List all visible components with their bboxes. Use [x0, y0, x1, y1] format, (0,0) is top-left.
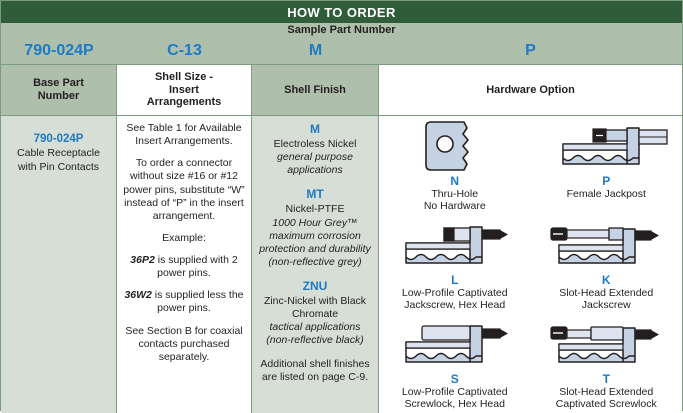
shell-size-p1: See Table 1 for Available Insert Arrange…: [122, 122, 246, 148]
low-profile-screwlock-art: [380, 316, 530, 374]
shell-finish-note-znu-2: (non-reflective black): [266, 334, 363, 346]
column-base-part-number: 790-024P Cable Receptacle with Pin Conta…: [1, 116, 117, 413]
header-hardware-option: Hardware Option: [379, 65, 682, 115]
shell-size-p2: To order a connector without size #16 or…: [122, 157, 246, 223]
hardware-label-t: Slot-Head Extended Captivated Screwlock: [556, 386, 657, 411]
hardware-option-l: L Low-Profile Captivated Jackscrew, Hex …: [379, 215, 531, 314]
thru-hole-flange-art: [380, 118, 530, 176]
chart-banner: HOW TO ORDER: [1, 1, 682, 23]
shell-size-coax-note: See Section B for coaxial contacts purch…: [122, 325, 246, 364]
banner-title: HOW TO ORDER: [287, 5, 396, 20]
sample-part-number-strip: Sample Part Number 790-024P C-13 M P: [1, 23, 682, 65]
hardware-option-t: T Slot-Head Extended Captivated Screwloc…: [531, 314, 683, 413]
how-to-order-chart: HOW TO ORDER Sample Part Number 790-024P…: [0, 0, 683, 411]
example-code-36w2: 36W2: [124, 289, 151, 301]
shell-finish-note-mt-3: (non-reflective grey): [268, 256, 361, 268]
shell-finish-note-mt-2: maximum corrosion protection and durabil…: [259, 230, 371, 255]
hardware-code-s: S: [451, 373, 459, 386]
shell-size-example-2: 36W2 is supplied less the power pins.: [122, 289, 246, 315]
sample-code-base-part: 790-024P: [1, 38, 117, 64]
example-text-36w2: is supplied less the power pins.: [152, 289, 244, 314]
shell-finish-name-m: Electroless Nickel: [274, 138, 357, 150]
hardware-option-grid: N Thru-Hole No Hardware: [379, 116, 682, 413]
header-shell-finish: Shell Finish: [252, 65, 379, 115]
hardware-code-k: K: [602, 274, 611, 287]
shell-finish-code-mt: MT: [257, 187, 373, 202]
slot-head-screwlock-art: [531, 316, 681, 374]
hardware-label-s: Low-Profile Captivated Screwlock, Hex He…: [402, 386, 508, 411]
base-part-desc-line1: Cable Receptacle: [17, 147, 100, 159]
sample-code-hardware: P: [379, 38, 682, 64]
column-hardware-option: N Thru-Hole No Hardware: [379, 116, 682, 413]
low-profile-jackscrew-art: [380, 217, 530, 275]
header-base-part-number: Base Part Number: [1, 65, 117, 115]
shell-finish-item-znu: ZNU Zinc-Nickel with Black Chromate tact…: [257, 279, 373, 348]
shell-finish-name-znu: Zinc-Nickel with Black Chromate: [264, 295, 366, 320]
shell-finish-item-mt: MT Nickel-PTFE 1000 Hour Grey™ maximum c…: [257, 187, 373, 269]
hardware-option-n: N Thru-Hole No Hardware: [379, 116, 531, 215]
example-code-36p2: 36P2: [130, 254, 155, 266]
base-part-code: 790-024P: [6, 132, 111, 146]
hardware-code-t: T: [603, 373, 610, 386]
column-shell-finish: M Electroless Nickel general purpose app…: [252, 116, 379, 413]
sample-part-number-label: Sample Part Number: [1, 24, 682, 36]
shell-finish-note-m-1: general purpose applications: [277, 151, 353, 176]
hardware-code-l: L: [451, 274, 458, 287]
slot-head-jackscrew-art: [531, 217, 681, 275]
example-text-36p2: is supplied with 2 power pins.: [155, 254, 238, 279]
base-part-desc-line2: with Pin Contacts: [18, 161, 99, 173]
hardware-option-k: K Slot-Head Extended Jackscrew: [531, 215, 683, 314]
column-shell-size-insert-arrangements: See Table 1 for Available Insert Arrange…: [117, 116, 252, 413]
hardware-label-l: Low-Profile Captivated Jackscrew, Hex He…: [402, 287, 508, 312]
shell-finish-note-mt-1: 1000 Hour Grey™: [272, 217, 357, 229]
header-shell-size-insert-arrangements: Shell Size - Insert Arrangements: [117, 65, 252, 115]
hardware-label-n: Thru-Hole No Hardware: [424, 188, 486, 213]
hardware-option-s: S Low-Profile Captivated Screwlock, Hex …: [379, 314, 531, 413]
chart-body-row: 790-024P Cable Receptacle with Pin Conta…: [1, 116, 682, 413]
sample-code-shell-finish: M: [252, 38, 379, 64]
shell-finish-code-znu: ZNU: [257, 279, 373, 294]
shell-finish-note-znu-1: tactical applications: [269, 321, 360, 333]
hardware-code-n: N: [450, 175, 459, 188]
shell-size-example-1: 36P2 is supplied with 2 power pins.: [122, 254, 246, 280]
shell-finish-footnote: Additional shell finishes are listed on …: [257, 358, 373, 384]
shell-size-example-heading: Example:: [122, 232, 246, 245]
hardware-label-p: Female Jackpost: [567, 188, 646, 201]
column-header-row: Base Part Number Shell Size - Insert Arr…: [1, 65, 682, 116]
hardware-code-p: P: [602, 175, 610, 188]
shell-finish-code-m: M: [257, 122, 373, 137]
hardware-label-k: Slot-Head Extended Jackscrew: [559, 287, 653, 312]
hardware-option-p: P Female Jackpost: [531, 116, 683, 215]
sample-part-number-codes: 790-024P C-13 M P: [1, 38, 682, 64]
shell-finish-name-mt: Nickel-PTFE: [286, 203, 345, 215]
shell-finish-item-m: M Electroless Nickel general purpose app…: [257, 122, 373, 177]
female-jackpost-art: [531, 118, 681, 176]
sample-code-shell-size: C-13: [117, 38, 252, 64]
